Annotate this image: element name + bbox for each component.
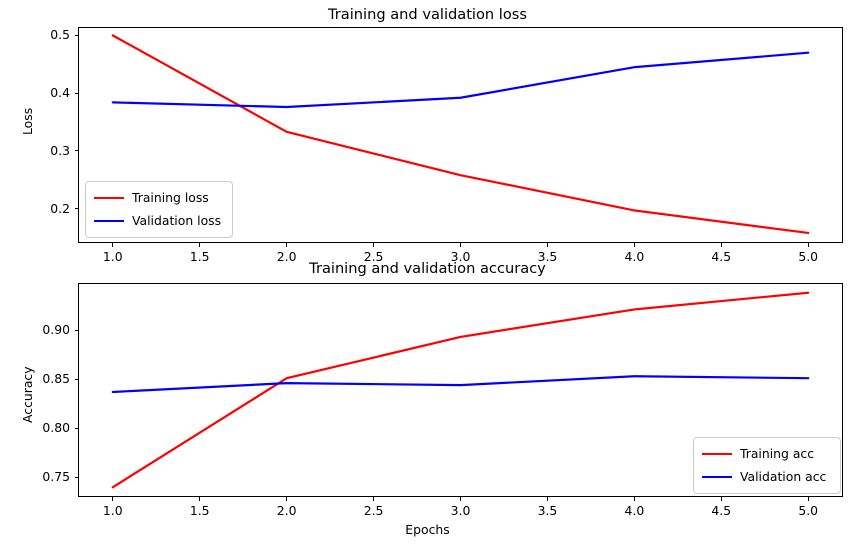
x-tick-label: 2.5 (364, 505, 384, 517)
x-tick-label: 5.0 (798, 505, 818, 517)
training-acc-color-swatch (702, 453, 732, 456)
x-tick-label: 1.0 (103, 505, 123, 517)
y-tick-mark (75, 477, 79, 478)
series-line-validation-acc (113, 376, 808, 392)
x-tick-mark (721, 497, 722, 501)
legend-label-validation-acc: Validation acc (740, 471, 826, 483)
y-tick-mark (75, 330, 79, 331)
x-tick-mark (373, 497, 374, 501)
y-tick-label: 0.80 (14, 422, 70, 434)
x-tick-label: 4.5 (711, 505, 731, 517)
y-tick-label: 0.75 (14, 471, 70, 483)
x-tick-mark (460, 497, 461, 501)
y-tick-mark (75, 379, 79, 380)
accuracy-chart-legend[interactable]: Training acc Validation acc (693, 437, 841, 494)
x-tick-mark (808, 497, 809, 501)
x-tick-label: 3.5 (538, 505, 558, 517)
x-tick-mark (112, 497, 113, 501)
x-tick-label: 1.5 (190, 505, 210, 517)
y-tick-label: 0.85 (14, 373, 70, 385)
x-tick-label: 3.0 (451, 505, 471, 517)
accuracy-chart-xlabel: Epochs (0, 524, 855, 536)
y-tick-mark (75, 428, 79, 429)
x-tick-mark (199, 497, 200, 501)
validation-acc-color-swatch (702, 476, 732, 479)
x-tick-mark (634, 497, 635, 501)
legend-label-training-acc: Training acc (740, 448, 814, 460)
y-tick-label: 0.90 (14, 324, 70, 336)
x-tick-label: 4.0 (625, 505, 645, 517)
x-tick-label: 2.0 (277, 505, 297, 517)
x-tick-mark (286, 497, 287, 501)
legend-item-training-acc: Training acc (702, 445, 832, 463)
matplotlib-figure: Training and validation loss Loss 1.01.5… (0, 0, 855, 547)
legend-item-validation-acc: Validation acc (702, 468, 832, 486)
x-tick-mark (547, 497, 548, 501)
